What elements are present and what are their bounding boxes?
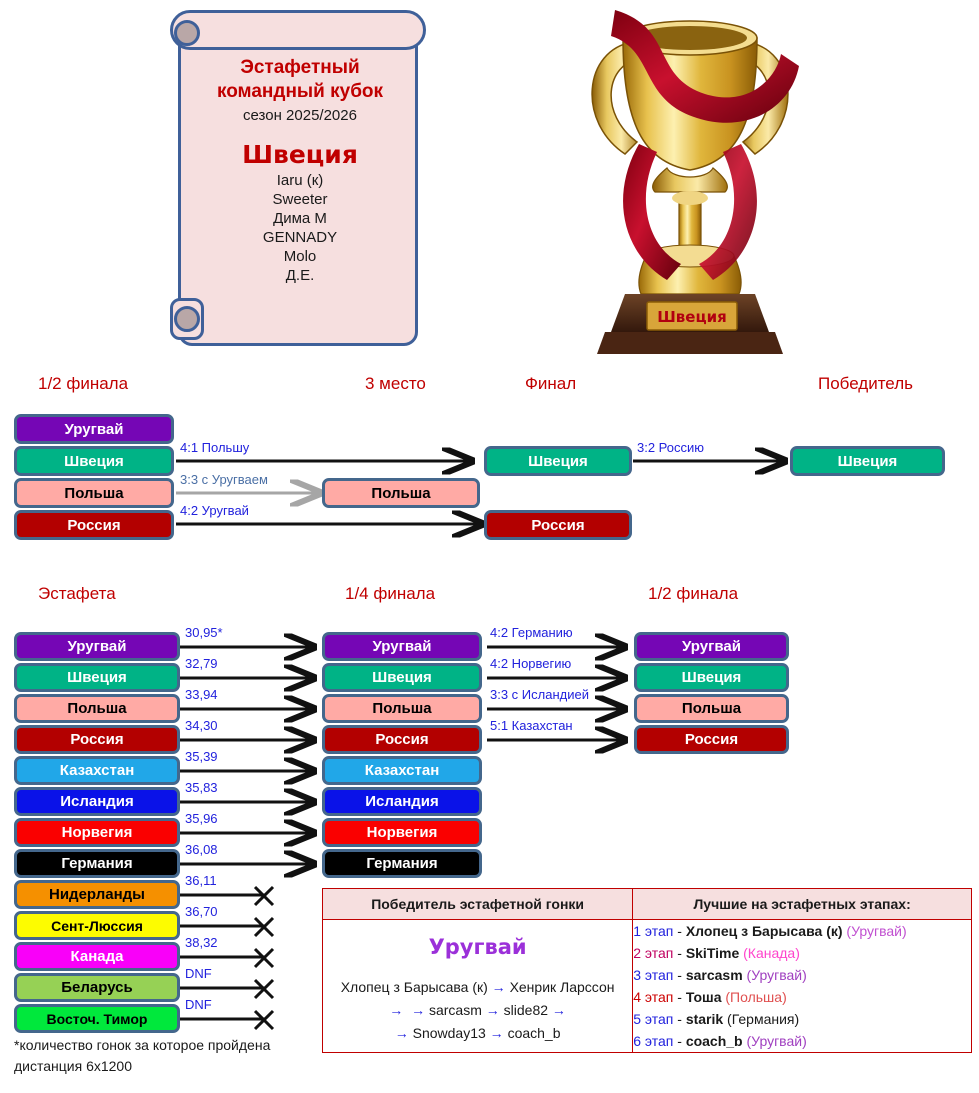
top-semifinal-team-2[interactable]: Швеция xyxy=(14,446,174,476)
chain-line-3: → Snowday13 → coach_b xyxy=(323,1022,632,1045)
relay-time-label: 34,30 xyxy=(185,718,218,733)
team-member: Д.Е. xyxy=(190,266,410,285)
quarterfinal-team-box[interactable]: Норвегия xyxy=(322,818,482,847)
bottom-semifinal-team-box[interactable]: Польша xyxy=(634,694,789,723)
caption-semifinal-bottom: 1/2 финала xyxy=(648,584,738,604)
team-member: Molo xyxy=(190,247,410,266)
relay-team-box[interactable]: Исландия xyxy=(14,787,180,816)
team-member: Дима М xyxy=(190,209,410,228)
third-place-box[interactable]: Польша xyxy=(322,478,480,508)
relay-team-box[interactable]: Беларусь xyxy=(14,973,180,1002)
best-stage-number: 6 этап xyxy=(633,1033,673,1049)
best-stage-number: 1 этап xyxy=(633,923,673,939)
relay-time-label: 38,32 xyxy=(185,935,218,950)
bottom-semifinal-team-box[interactable]: Уругвай xyxy=(634,632,789,661)
best-stage-team: (Польша) xyxy=(722,989,787,1005)
best-stage-number: 2 этап xyxy=(633,945,673,961)
table-header-row: Победитель эстафетной гонки Лучшие на эс… xyxy=(323,889,972,920)
relay-team-box[interactable]: Уругвай xyxy=(14,632,180,661)
top-semifinal-team-1[interactable]: Уругвай xyxy=(14,414,174,444)
best-stage-list: 1 этап - Хлопец з Барысава (к) (Уругвай)… xyxy=(633,920,971,1052)
relay-time-label: 35,96 xyxy=(185,811,218,826)
trophy-icon: Швеция xyxy=(555,2,825,362)
top-semifinal-team-4[interactable]: Россия xyxy=(14,510,174,540)
chain-runner: Хлопец з Барысава (к) xyxy=(341,979,488,995)
relay-team-box[interactable]: Германия xyxy=(14,849,180,878)
chain-runner: slide82 xyxy=(504,1002,548,1018)
best-stage-number: 5 этап xyxy=(633,1011,673,1027)
best-stage-athlete: Тоша xyxy=(686,989,722,1005)
scroll-banner: Эстафетный командный кубок сезон 2025/20… xyxy=(170,6,430,354)
trophy-plate-label: Швеция xyxy=(657,308,726,326)
quarterfinal-team-box[interactable]: Россия xyxy=(322,725,482,754)
quarterfinal-team-box[interactable]: Польша xyxy=(322,694,482,723)
relay-time-label: 36,70 xyxy=(185,904,218,919)
best-stage-team: (Уругвай) xyxy=(743,1033,807,1049)
elimination-x-icon xyxy=(255,887,273,1029)
relay-time-label: 35,39 xyxy=(185,749,218,764)
best-stages-cell: 1 этап - Хлопец з Барысава (к) (Уругвай)… xyxy=(633,920,972,1053)
team-member-list: Iaru (к) Sweeter Дима М GENNADY Molo Д.Е… xyxy=(190,171,410,285)
winning-team-name: Швеция xyxy=(190,139,410,171)
relay-time-label: 32,79 xyxy=(185,656,218,671)
relay-team-box[interactable]: Сент-Люссия xyxy=(14,911,180,940)
scroll-bottom-curl-icon xyxy=(174,306,200,332)
arrow-icon: → xyxy=(492,979,506,995)
relay-time-label: 36,08 xyxy=(185,842,218,857)
caption-semifinal-top: 1/2 финала xyxy=(38,374,128,394)
relay-team-box[interactable]: Россия xyxy=(14,725,180,754)
team-member: GENNADY xyxy=(190,228,410,247)
scroll-text-block: Эстафетный командный кубок сезон 2025/20… xyxy=(190,56,410,285)
top-edge-label-3: 4:2 Уругвай xyxy=(180,503,249,518)
relay-team-box[interactable]: Швеция xyxy=(14,663,180,692)
relay-time-label: 36,11 xyxy=(185,873,217,888)
best-stage-separator: - xyxy=(673,1033,685,1049)
caption-relay: Эстафета xyxy=(38,584,116,604)
quarterfinal-result-label: 4:2 Норвегию xyxy=(490,656,571,671)
scroll-top-curl-icon xyxy=(174,20,200,46)
chain-runner: coach_b xyxy=(508,1025,561,1041)
winner-box[interactable]: Швеция xyxy=(790,446,945,476)
relay-time-label: 33,94 xyxy=(185,687,218,702)
best-stage-team: (Канада) xyxy=(739,945,800,961)
best-stage-separator: - xyxy=(673,967,685,983)
quarterfinal-team-box[interactable]: Казахстан xyxy=(322,756,482,785)
relay-time-label: DNF xyxy=(185,997,212,1012)
team-member: Sweeter xyxy=(190,190,410,209)
best-stage-number: 3 этап xyxy=(633,967,673,983)
bottom-semifinal-team-box[interactable]: Швеция xyxy=(634,663,789,692)
team-member: Iaru (к) xyxy=(190,171,410,190)
caption-final: Финал xyxy=(525,374,576,394)
best-stage-athlete: SkiTime xyxy=(686,945,739,961)
cup-title-line2: командный кубок xyxy=(190,80,410,104)
chain-runner: Хенрик Ларссон xyxy=(510,979,615,995)
top-edge-label-4: 3:2 Россию xyxy=(637,440,704,455)
table-header-winner: Победитель эстафетной гонки xyxy=(323,889,633,920)
best-stage-separator: - xyxy=(673,989,685,1005)
arrow-icon: → xyxy=(552,1002,566,1018)
arrow-icon: → xyxy=(486,1002,500,1018)
best-stage-athlete: sarcasm xyxy=(686,967,743,983)
best-stage-row: 4 этап - Тоша (Польша) xyxy=(633,986,971,1008)
chain-line-1: Хлопец з Барысава (к) → Хенрик Ларссон xyxy=(323,976,632,999)
chain-runner: Snowday13 xyxy=(413,1025,486,1041)
best-stage-team: (Уругвай) xyxy=(843,923,907,939)
chain-runner: sarcasm xyxy=(429,1002,482,1018)
best-stage-separator: - xyxy=(673,923,685,939)
relay-team-box[interactable]: Нидерланды xyxy=(14,880,180,909)
arrow-icon: → xyxy=(395,1025,409,1041)
final-team-1[interactable]: Швеция xyxy=(484,446,632,476)
footnote-text: *количество гонок за которое пройдена ди… xyxy=(14,1035,314,1077)
caption-winner: Победитель xyxy=(818,374,913,394)
top-edge-label-1: 4:1 Польшу xyxy=(180,440,249,455)
caption-quarterfinal: 1/4 финала xyxy=(345,584,435,604)
arrow-icon: → xyxy=(389,1002,403,1018)
relay-time-label: DNF xyxy=(185,966,212,981)
quarterfinal-team-box[interactable]: Уругвай xyxy=(322,632,482,661)
arrow-icon: → xyxy=(411,1002,425,1018)
relay-team-box[interactable]: Казахстан xyxy=(14,756,180,785)
best-stage-athlete: starik xyxy=(686,1011,723,1027)
cup-season: сезон 2025/2026 xyxy=(190,105,410,127)
results-table: Победитель эстафетной гонки Лучшие на эс… xyxy=(322,888,972,1053)
best-stage-separator: - xyxy=(673,1011,685,1027)
quarterfinal-result-label: 5:1 Казахстан xyxy=(490,718,573,733)
best-stage-separator: - xyxy=(673,945,685,961)
scroll-top-roll xyxy=(170,10,426,50)
best-stage-row: 1 этап - Хлопец з Барысава (к) (Уругвай) xyxy=(633,920,971,942)
best-stage-row: 6 этап - coach_b (Уругвай) xyxy=(633,1030,971,1052)
quarterfinal-team-box[interactable]: Швеция xyxy=(322,663,482,692)
best-stage-team: (Уругвай) xyxy=(743,967,807,983)
relay-winner-name: Уругвай xyxy=(323,932,632,962)
relay-team-box[interactable]: Норвегия xyxy=(14,818,180,847)
quarterfinal-team-box[interactable]: Германия xyxy=(322,849,482,878)
top-edge-label-2: 3:3 с Уругваем xyxy=(180,472,268,487)
caption-third-place: 3 место xyxy=(365,374,426,394)
cup-title-line1: Эстафетный xyxy=(190,56,410,80)
best-stage-row: 5 этап - starik (Германия) xyxy=(633,1008,971,1030)
table-body-row: Уругвай Хлопец з Барысава (к) → Хенрик Л… xyxy=(323,920,972,1053)
relay-winner-cell: Уругвай Хлопец з Барысава (к) → Хенрик Л… xyxy=(323,920,633,1053)
top-semifinal-team-3[interactable]: Польша xyxy=(14,478,174,508)
relay-team-box[interactable]: Восточ. Тимор xyxy=(14,1004,180,1033)
best-stage-athlete: coach_b xyxy=(686,1033,743,1049)
best-stage-row: 3 этап - sarcasm (Уругвай) xyxy=(633,964,971,986)
quarterfinal-result-label: 4:2 Германию xyxy=(490,625,573,640)
arrow-icon: → xyxy=(490,1025,504,1041)
table-header-best-stages: Лучшие на эстафетных этапах: xyxy=(633,889,972,920)
relay-time-label: 35,83 xyxy=(185,780,218,795)
best-stage-row: 2 этап - SkiTime (Канада) xyxy=(633,942,971,964)
best-stage-team: (Германия) xyxy=(723,1011,799,1027)
best-stage-athlete: Хлопец з Барысава (к) xyxy=(686,923,843,939)
relay-team-box[interactable]: Канада xyxy=(14,942,180,971)
bottom-semifinal-team-box[interactable]: Россия xyxy=(634,725,789,754)
relay-runner-chain: Хлопец з Барысава (к) → Хенрик Ларссон →… xyxy=(323,976,632,1045)
relay-team-box[interactable]: Польша xyxy=(14,694,180,723)
quarterfinal-team-box[interactable]: Исландия xyxy=(322,787,482,816)
quarterfinal-result-label: 3:3 с Исландией xyxy=(490,687,589,702)
chain-line-2: → → sarcasm → slide82 → xyxy=(323,999,632,1022)
relay-time-label: 30,95* xyxy=(185,625,223,640)
best-stage-number: 4 этап xyxy=(633,989,673,1005)
final-team-2[interactable]: Россия xyxy=(484,510,632,540)
